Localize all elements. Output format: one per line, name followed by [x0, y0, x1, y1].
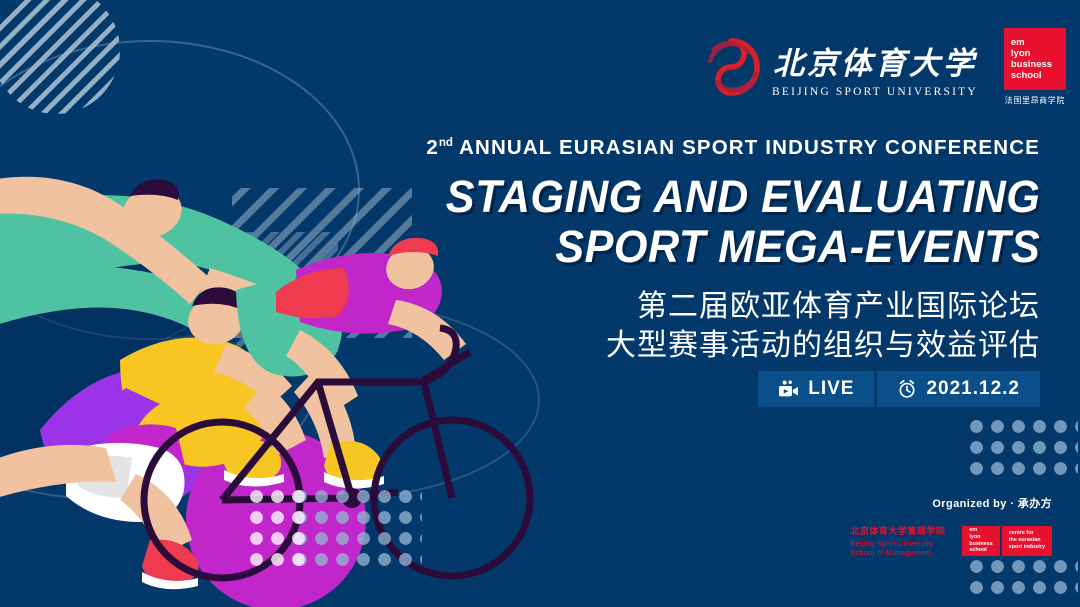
bsusm-chinese: 北京体育大学管理学院 [850, 524, 945, 537]
bsu-logo-text: 北京体育大学 BEIJING SPORT UNIVERSITY [772, 47, 978, 98]
organizer-section: Organized by · 承办方 北京体育大学管理学院 Beijing Sp… [850, 495, 1052, 557]
live-badge-label: LIVE [808, 378, 854, 400]
conference-poster: 北京体育大学 BEIJING SPORT UNIVERSITY em lyon … [0, 0, 1080, 607]
title-line-2: SPORT MEGA-EVENTS [445, 222, 1040, 272]
video-camera-icon [778, 380, 799, 399]
dot-grid-decoration-right-1 [966, 416, 1078, 482]
chinese-subtitle: 第二届欧亚体育产业国际论坛 大型赛事活动的组织与效益评估 [421, 287, 1040, 366]
conference-kicker: 2nd ANNUAL EURASIAN SPORT INDUSTRY CONFE… [421, 136, 1040, 160]
emlyon-logo-lines: em lyon business school [1011, 37, 1052, 82]
subtitle-line-2: 大型赛事活动的组织与效益评估 [421, 326, 1040, 366]
emlyon-logo: em lyon business school 法国里昂商学院 [1004, 28, 1066, 106]
header-logos: 北京体育大学 BEIJING SPORT UNIVERSITY em lyon … [700, 28, 1066, 106]
headline-block: 2nd ANNUAL EURASIAN SPORT INDUSTRY CONFE… [421, 136, 1040, 366]
emlyon-centre-logo: em lyon business school centre for the e… [962, 526, 1052, 556]
bsu-chinese-name: 北京体育大学 [773, 47, 977, 81]
beijing-sport-university-logo: 北京体育大学 BEIJING SPORT UNIVERSITY [700, 36, 978, 98]
dot-grid-decoration-right-2 [966, 556, 1078, 602]
subtitle-line-1: 第二届欧亚体育产业国际论坛 [421, 287, 1040, 327]
alarm-clock-icon [897, 379, 917, 399]
organized-by-label: Organized by · 承办方 [850, 495, 1052, 511]
kicker-ordinal-suffix: nd [439, 137, 453, 149]
bsu-school-of-management-logo: 北京体育大学管理学院 Beijing Sport University Scho… [850, 524, 945, 557]
bsu-english-name: BEIJING SPORT UNIVERSITY [772, 86, 978, 98]
emlyon-right-cell: centre for the eurasian sport industry [1000, 526, 1052, 556]
bsusm-english-line-1: Beijing Sport University [850, 539, 945, 548]
date-badge-label: 2021.12.2 [926, 378, 1020, 400]
organizer-logos: 北京体育大学管理学院 Beijing Sport University Scho… [850, 524, 1052, 557]
title-line-1: STAGING AND EVALUATING [445, 172, 1040, 222]
emlyon-red-box: em lyon business school [1004, 28, 1066, 90]
kicker-ordinal-number: 2 [426, 136, 439, 159]
info-badges: LIVE 2021.12.2 [758, 371, 1040, 407]
bsusm-english-line-2: School of Management [850, 548, 945, 557]
emlyon-chinese-name: 法国里昂商学院 [1005, 95, 1065, 106]
live-badge[interactable]: LIVE [758, 371, 874, 407]
red-swirl-emblem [700, 36, 762, 98]
page-title: STAGING AND EVALUATING SPORT MEGA-EVENTS [445, 172, 1040, 273]
kicker-rest: ANNUAL EURASIAN SPORT INDUSTRY CONFERENC… [453, 136, 1040, 159]
emlyon-left-cell: em lyon business school [962, 526, 999, 556]
date-badge[interactable]: 2021.12.2 [877, 371, 1040, 407]
